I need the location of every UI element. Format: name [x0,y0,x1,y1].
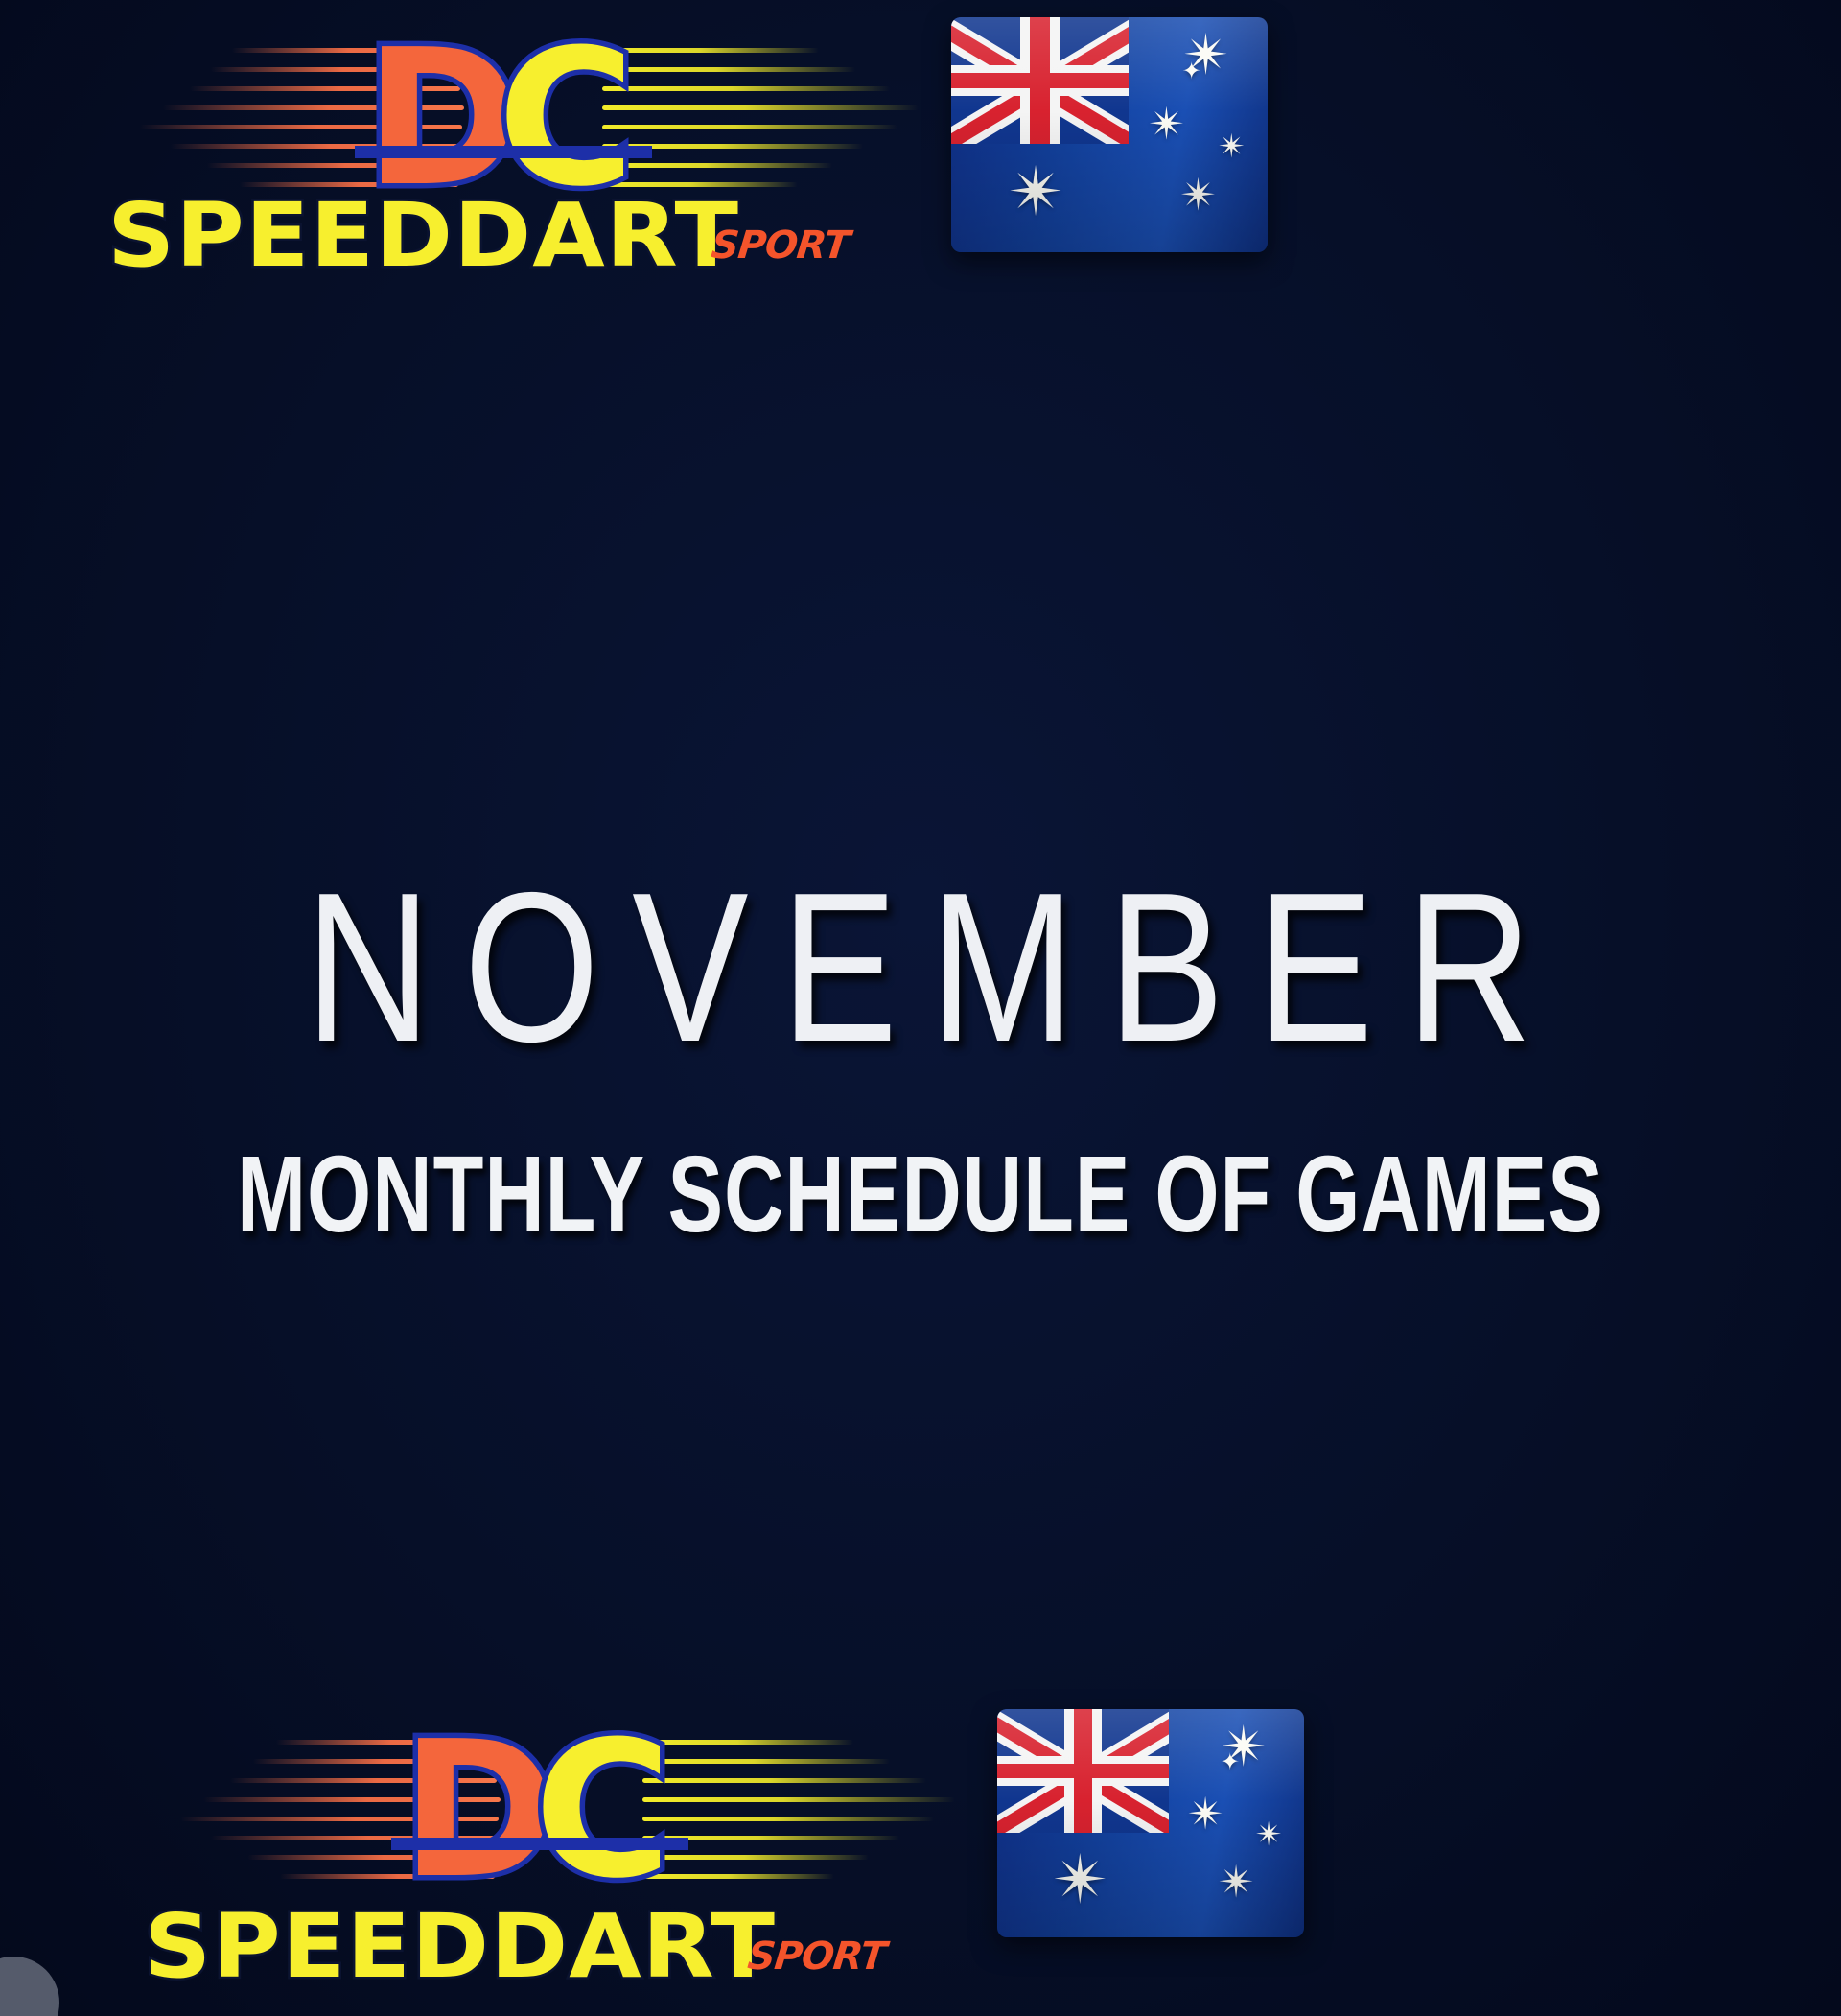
speeddart-logo-bottom: D C SPEEDDART SPORT [144,1709,940,1997]
dc-monogram-bottom: D C [401,1728,663,1893]
monogram-letter-c: C [534,1728,663,1893]
corner-overlay-button[interactable] [0,1957,59,2016]
monogram-letter-d: D [364,36,511,201]
monogram-crossbar [391,1838,688,1850]
brand-footer: D C SPEEDDART SPORT ✴ ✴ ✴ ✴ ✴ ✦ [144,1709,1304,1997]
monogram-letter-c: C [498,36,626,201]
wordmark-bottom: SPEEDDART SPORT [144,1907,885,1988]
australia-flag-bottom: ✴ ✴ ✴ ✴ ✴ ✦ [997,1709,1304,1937]
dc-monogram-top: D C [364,36,626,201]
flag-gloss-overlay [951,17,1268,252]
wordmark-suffix: SPORT [709,223,851,268]
wordmark-text: SPEEDDART [107,196,739,277]
headline-block: NOVEMBER MONTHLY SCHEDULE OF GAMES [0,844,1841,1232]
wordmark-text: SPEEDDART [144,1907,776,1988]
brand-header: D C SPEEDDART SPORT ✴ ✴ ✴ ✴ ✴ ✦ [107,17,1268,276]
australia-flag-top: ✴ ✴ ✴ ✴ ✴ ✦ [951,17,1268,252]
page-title-month: NOVEMBER [29,844,1841,1090]
flag-gloss-overlay [997,1709,1304,1937]
poster-canvas: D C SPEEDDART SPORT ✴ ✴ ✴ ✴ ✴ ✦ [0,0,1841,2016]
wordmark-suffix: SPORT [745,1934,887,1979]
page-subtitle: MONTHLY SCHEDULE OF GAMES [36,1134,1804,1258]
monogram-letter-d: D [401,1728,548,1893]
wordmark-top: SPEEDDART SPORT [107,196,849,277]
speeddart-logo-top: D C SPEEDDART SPORT [107,17,894,276]
monogram-crossbar [355,146,652,158]
